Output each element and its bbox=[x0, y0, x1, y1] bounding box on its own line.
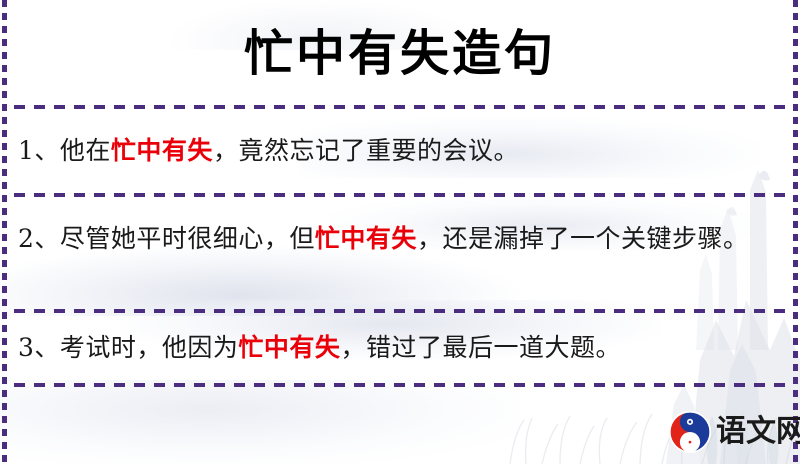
page-title: 忙中有失造句 bbox=[0, 24, 800, 82]
sentence-2-after: ，还是漏掉了一个关键步骤。 bbox=[417, 224, 749, 253]
sentence-2-number: 2、 bbox=[18, 224, 60, 253]
sentence-3-keyword: 忙中有失 bbox=[238, 333, 340, 362]
example-sentence-2: 2、尽管她平时很细心，但忙中有失，还是漏掉了一个关键步骤。 bbox=[18, 216, 774, 261]
example-sentence-3: 3、考试时，他因为忙中有失，错过了最后一道大题。 bbox=[18, 325, 774, 370]
divider-3 bbox=[14, 309, 786, 313]
divider-4 bbox=[14, 383, 786, 387]
dashed-border-left bbox=[2, 0, 7, 464]
sentence-1-after: ，竟然忘记了重要的会议。 bbox=[213, 136, 519, 165]
dashed-border-right bbox=[793, 0, 798, 464]
sentence-3-after: ，错过了最后一道大题。 bbox=[340, 333, 621, 362]
site-logo[interactable]: 语文网 bbox=[668, 408, 788, 456]
sentence-1-number: 1、 bbox=[18, 136, 60, 165]
sentence-1-before: 他在 bbox=[60, 136, 111, 165]
yin-yang-fish-emblem-icon bbox=[668, 410, 712, 454]
worksheet-page: 忙中有失造句 1、他在忙中有失，竟然忘记了重要的会议。 2、尽管她平时很细心，但… bbox=[0, 0, 800, 464]
divider-2 bbox=[14, 193, 786, 197]
site-logo-text: 语文网 bbox=[716, 416, 800, 448]
sentence-3-number: 3、 bbox=[18, 333, 60, 362]
sentence-2-before: 尽管她平时很细心，但 bbox=[60, 224, 315, 253]
sentence-1-keyword: 忙中有失 bbox=[111, 136, 213, 165]
sentence-3-before: 考试时，他因为 bbox=[60, 333, 239, 362]
sentence-2-keyword: 忙中有失 bbox=[315, 224, 417, 253]
mist-cloud-e bbox=[0, 380, 520, 464]
example-sentence-1: 1、他在忙中有失，竟然忘记了重要的会议。 bbox=[18, 128, 774, 173]
divider-1 bbox=[14, 105, 786, 109]
